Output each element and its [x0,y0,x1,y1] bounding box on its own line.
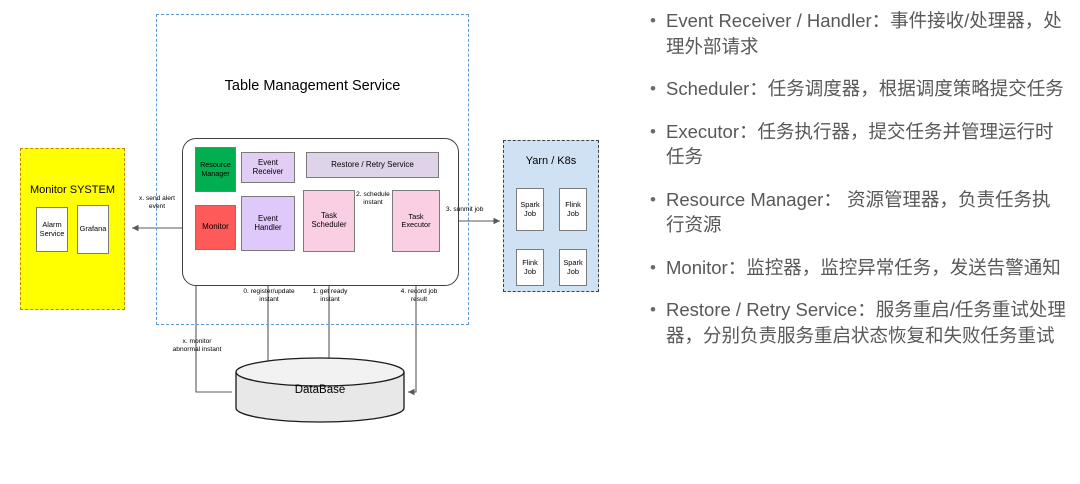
node-task-executor-label: Task Executor [393,213,439,230]
diagram-title: Table Management Service [156,78,469,94]
node-flink-job-2-label: Flink Job [517,259,543,276]
node-resource-manager-label: Resource Manager [196,161,235,177]
node-alarm-service[interactable]: Alarm Service [36,207,68,252]
edge-label-record-result: 4. record job result [386,288,452,304]
edge-label-send-alert: x. send alert event [126,195,188,211]
node-spark-job-2[interactable]: Spark Job [559,249,587,286]
list-item-text: Monitor：监控器，监控异常任务，发送告警通知 [666,255,1061,281]
node-spark-job-1-label: Spark Job [517,201,543,218]
node-monitor[interactable]: Monitor [195,205,236,250]
bullet-marker-icon: • [640,187,666,211]
node-restore-retry-service[interactable]: Restore / Retry Service [306,152,439,178]
node-resource-manager[interactable]: Resource Manager [195,147,236,192]
list-item: • Monitor：监控器，监控异常任务，发送告警通知 [640,255,1068,281]
list-item: • Restore / Retry Service：服务重启/任务重试处理器，分… [640,297,1068,348]
node-flink-job-2[interactable]: Flink Job [516,249,544,286]
list-item-text: Restore / Retry Service：服务重启/任务重试处理器，分别负… [666,297,1068,348]
bullet-marker-icon: • [640,255,666,279]
list-item-text: Executor：任务执行器，提交任务并管理运行时任务 [666,119,1068,170]
list-item: • Event Receiver / Handler：事件接收/处理器，处理外部… [640,8,1068,59]
slide-canvas: Table Management Service Resource Manage… [0,0,1080,484]
node-event-receiver-label: Event Receiver [242,159,294,176]
bullet-list: • Event Receiver / Handler：事件接收/处理器，处理外部… [640,0,1080,484]
list-item: • Executor：任务执行器，提交任务并管理运行时任务 [640,119,1068,170]
edge-label-monitor-abnormal: x. monitor abnormal instant [152,338,242,354]
node-restore-retry-service-label: Restore / Retry Service [329,161,416,170]
node-task-scheduler-label: Task Scheduler [304,212,354,229]
node-grafana-label: Grafana [78,225,109,233]
list-item-text: Scheduler：任务调度器，根据调度策略提交任务 [666,76,1064,102]
node-flink-job-1[interactable]: Flink Job [559,188,587,231]
architecture-diagram: Table Management Service Resource Manage… [0,0,640,484]
list-item-text: Event Receiver / Handler：事件接收/处理器，处理外部请求 [666,8,1068,59]
node-spark-job-1[interactable]: Spark Job [516,188,544,231]
monitor-system-title: Monitor SYSTEM [20,184,125,196]
bullet-marker-icon: • [640,119,666,143]
edge-label-schedule-instant: 2. schedule instant [348,191,398,207]
node-grafana[interactable]: Grafana [77,205,109,254]
bullet-marker-icon: • [640,297,666,321]
bullet-marker-icon: • [640,8,666,32]
node-task-executor[interactable]: Task Executor [392,190,440,252]
bullet-marker-icon: • [640,76,666,100]
node-spark-job-2-label: Spark Job [560,259,586,276]
node-event-handler[interactable]: Event Handler [241,196,295,251]
edge-label-submit-job: 3. sunmit job [446,206,498,214]
database-label: DataBase [236,384,404,396]
node-event-receiver[interactable]: Event Receiver [241,152,295,183]
node-monitor-label: Monitor [200,223,231,232]
node-event-handler-label: Event Handler [242,215,294,232]
cluster-title: Yarn / K8s [503,155,599,167]
list-item: • Scheduler：任务调度器，根据调度策略提交任务 [640,76,1068,102]
node-alarm-service-label: Alarm Service [37,221,67,238]
list-item-text: Resource Manager： 资源管理器，负责任务执行资源 [666,187,1068,238]
edge-label-get-ready: 1. get ready instant [294,288,366,304]
list-item: • Resource Manager： 资源管理器，负责任务执行资源 [640,187,1068,238]
node-flink-job-1-label: Flink Job [560,201,586,218]
